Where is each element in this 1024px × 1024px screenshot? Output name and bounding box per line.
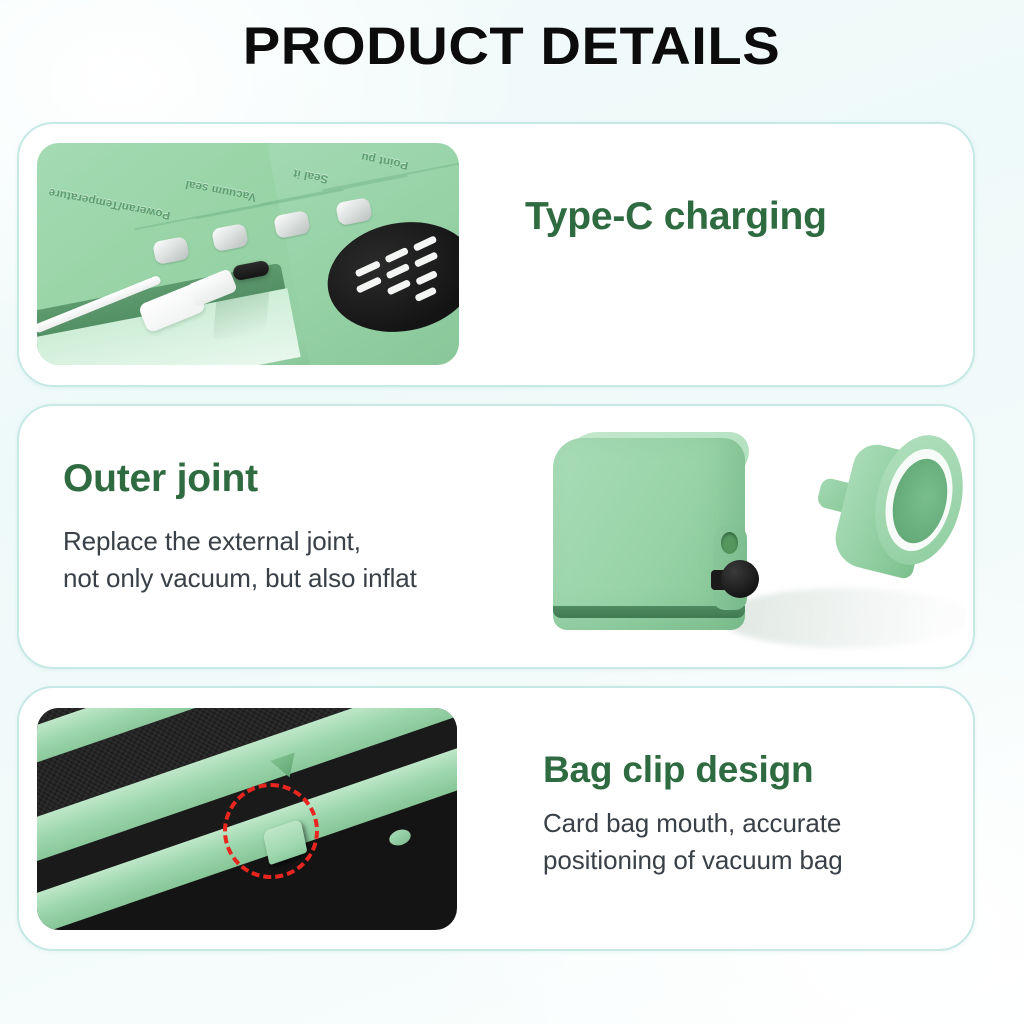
feature-text-outer-joint: Outer joint Replace the external joint, … bbox=[63, 458, 417, 597]
drop-shadow bbox=[721, 588, 965, 648]
page-title: PRODUCT DETAILS bbox=[243, 16, 781, 77]
feature-panel-outer-joint: Outer joint Replace the external joint, … bbox=[17, 404, 975, 669]
black-rubber-plug-icon bbox=[721, 560, 759, 598]
page-header: PRODUCT DETAILS bbox=[0, 16, 1024, 77]
highlight-circle-icon bbox=[223, 783, 319, 879]
product-photo-type-c-charging: Poweran/Temperature Vacuum seal Seal it … bbox=[37, 143, 459, 365]
feature-heading: Type-C charging bbox=[525, 196, 827, 239]
feature-text-type-c-charging: Type-C charging bbox=[525, 196, 827, 239]
feature-panel-bag-clip-design: Bag clip design Card bag mouth, accurate… bbox=[17, 686, 975, 951]
feature-panel-type-c-charging: Poweran/Temperature Vacuum seal Seal it … bbox=[17, 122, 975, 387]
product-photo-outer-joint bbox=[525, 420, 965, 658]
device-base-strip bbox=[553, 606, 745, 618]
feature-body-line: Replace the external joint, bbox=[63, 523, 417, 560]
feature-body-line: positioning of vacuum bag bbox=[543, 842, 843, 879]
product-photo-bag-clip-design bbox=[37, 708, 457, 930]
feature-heading: Bag clip design bbox=[543, 750, 843, 791]
feature-body-line: not only vacuum, but also inflat bbox=[63, 560, 417, 597]
joint-socket-hole bbox=[721, 532, 738, 554]
feature-body-line: Card bag mouth, accurate bbox=[543, 805, 843, 842]
feature-text-bag-clip-design: Bag clip design Card bag mouth, accurate… bbox=[543, 750, 843, 879]
feature-heading: Outer joint bbox=[63, 458, 417, 501]
